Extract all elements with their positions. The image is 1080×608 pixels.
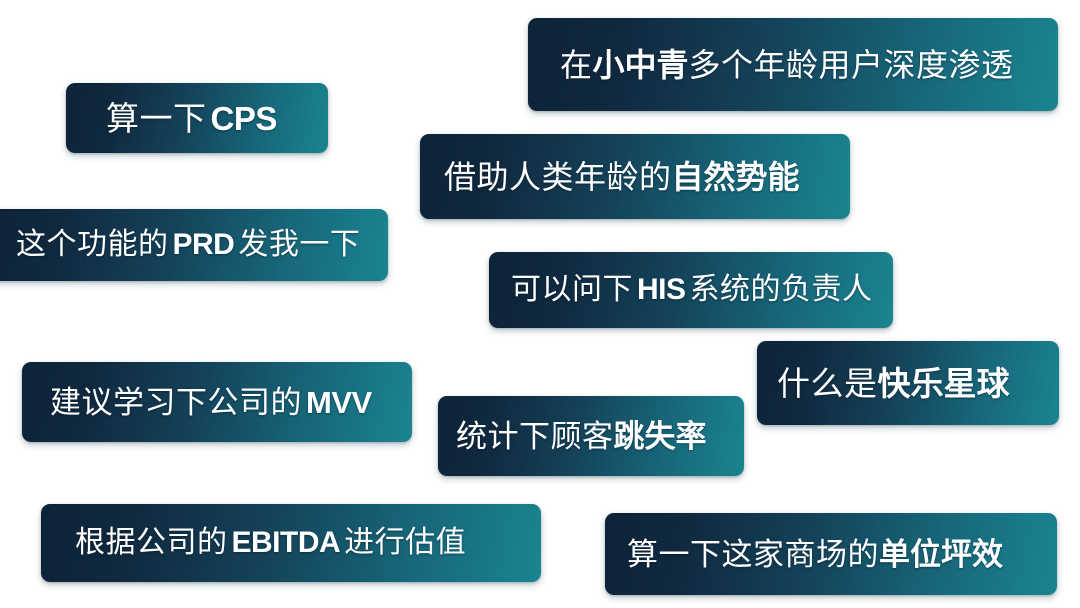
pill-prd[interactable]: 这个功能的PRD发我一下 bbox=[0, 209, 388, 281]
pill-text-segment: 发我一下 bbox=[238, 228, 360, 261]
pill-text-segment: 根据公司的 bbox=[75, 526, 228, 559]
pill-ziranshineng-text: 借助人类年龄的自然势能 bbox=[444, 161, 800, 193]
pill-text-segment: 快乐星球 bbox=[878, 365, 1010, 402]
pill-his[interactable]: 可以问下HIS系统的负责人 bbox=[489, 252, 893, 328]
pill-text-segment: 进行估值 bbox=[344, 526, 466, 559]
pill-text-segment: EBITDA bbox=[228, 526, 345, 559]
pill-tiaoshilv[interactable]: 统计下顾客跳失率 bbox=[438, 396, 744, 476]
pill-mvv[interactable]: 建议学习下公司的MVV bbox=[22, 362, 412, 442]
pill-text-segment: 什么是 bbox=[777, 365, 878, 402]
pill-text-segment: 可以问下 bbox=[511, 273, 633, 306]
pill-text-segment: CPS bbox=[207, 100, 281, 137]
pill-mvv-text: 建议学习下公司的MVV bbox=[50, 387, 376, 418]
pill-xiaozhongqing[interactable]: 在小中青多个年龄用户深度渗透 bbox=[528, 18, 1058, 111]
pill-text-segment: 统计下顾客 bbox=[456, 419, 614, 454]
pill-cps-text: 算一下CPS bbox=[106, 102, 281, 135]
pill-text-segment: 跳失率 bbox=[614, 419, 707, 454]
pill-cps[interactable]: 算一下CPS bbox=[66, 83, 328, 153]
pill-text-segment: 自然势能 bbox=[672, 159, 800, 195]
pill-kuailexingqiu[interactable]: 什么是快乐星球 bbox=[757, 341, 1059, 425]
pill-text-segment: 多个年龄用户深度渗透 bbox=[689, 47, 1014, 83]
pill-text-segment: MVV bbox=[302, 385, 376, 420]
pill-text-segment: 小中青 bbox=[593, 47, 689, 83]
pill-text-segment: 在 bbox=[560, 47, 593, 83]
pill-text-segment: 单位坪效 bbox=[879, 537, 1003, 572]
pill-text-segment: 算一下这家商场的 bbox=[627, 537, 879, 572]
pill-text-segment: 系统的负责人 bbox=[690, 273, 873, 306]
pill-danweipingxiao[interactable]: 算一下这家商场的单位坪效 bbox=[605, 513, 1057, 595]
pill-his-text: 可以问下HIS系统的负责人 bbox=[511, 275, 873, 305]
pill-ebitda-text: 根据公司的EBITDA进行估值 bbox=[75, 528, 466, 558]
pill-ziranshineng[interactable]: 借助人类年龄的自然势能 bbox=[420, 134, 850, 219]
pill-text-segment: PRD bbox=[169, 228, 239, 261]
pill-tiaoshilv-text: 统计下顾客跳失率 bbox=[456, 421, 707, 452]
pill-ebitda[interactable]: 根据公司的EBITDA进行估值 bbox=[41, 504, 541, 582]
pill-text-segment: HIS bbox=[633, 273, 690, 306]
pill-prd-text: 这个功能的PRD发我一下 bbox=[16, 230, 360, 260]
pill-text-segment: 建议学习下公司的 bbox=[50, 385, 302, 420]
pill-text-segment: 这个功能的 bbox=[16, 228, 169, 261]
phrase-collage-canvas: 算一下CPS 在小中青多个年龄用户深度渗透 借助人类年龄的自然势能 这个功能的P… bbox=[0, 0, 1080, 608]
pill-danweipingxiao-text: 算一下这家商场的单位坪效 bbox=[627, 539, 1003, 570]
pill-kuailexingqiu-text: 什么是快乐星球 bbox=[777, 367, 1010, 400]
pill-xiaozhongqing-text: 在小中青多个年龄用户深度渗透 bbox=[560, 49, 1014, 81]
pill-text-segment: 借助人类年龄的 bbox=[444, 159, 672, 195]
pill-text-segment: 算一下 bbox=[106, 100, 207, 137]
